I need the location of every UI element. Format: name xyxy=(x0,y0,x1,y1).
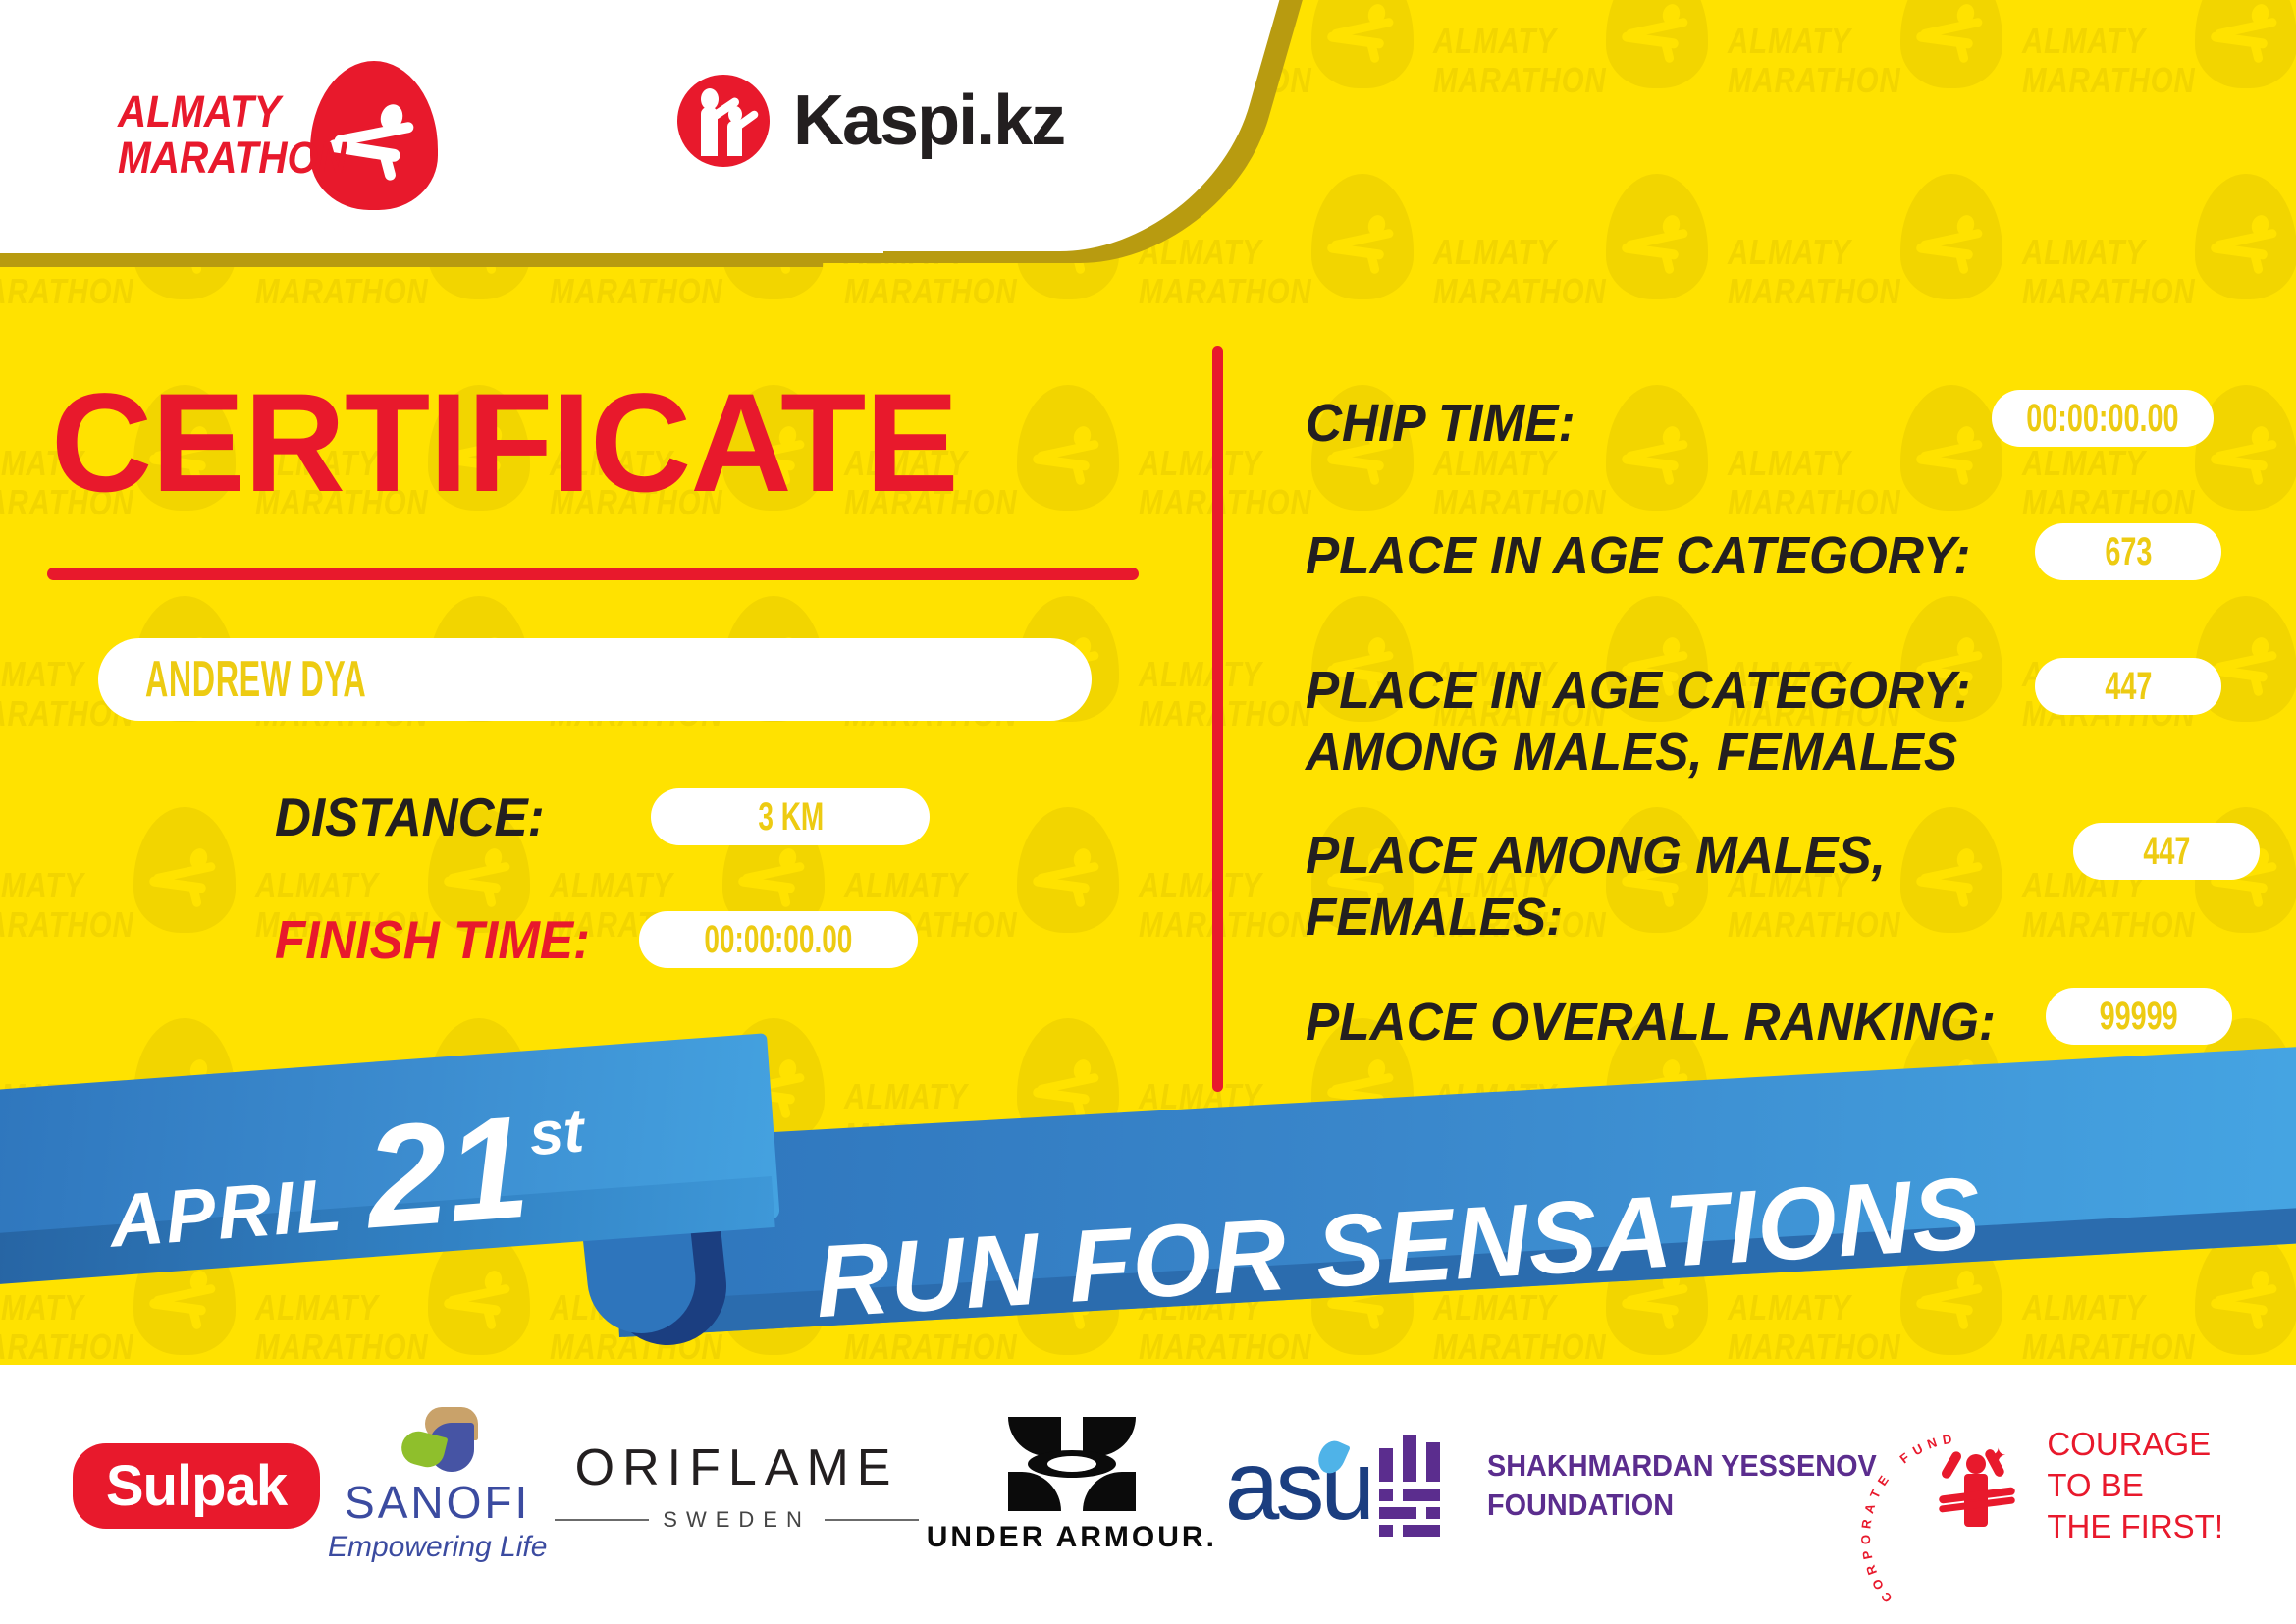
arc-letter: O xyxy=(1869,1577,1887,1593)
arc-letter: N xyxy=(1926,1435,1940,1451)
header-gold-strip xyxy=(0,253,823,267)
vertical-divider xyxy=(1212,346,1223,1092)
corporate-fund-logo: CORPORATE FUND ✦ COURAGE TO BE THE FIRST… xyxy=(1913,1424,2223,1547)
sanofi-wordmark: SANOFI xyxy=(345,1476,530,1529)
asu-wordmark: asu xyxy=(1225,1436,1371,1535)
asu-logo: asu xyxy=(1225,1436,1371,1535)
sulpak-badge: Sulpak xyxy=(73,1443,320,1529)
finish-line-runner-icon: ✦ xyxy=(1947,1448,2007,1529)
kaspi-wordmark: Kaspi.kz xyxy=(793,81,1064,161)
corporate-fund-wordmark: COURAGE TO BE THE FIRST! xyxy=(2047,1424,2223,1547)
yessenov-wordmark: SHAKHMARDAN YESSENOV FOUNDATION xyxy=(1487,1446,1877,1525)
sulpak-wordmark: Sulpak xyxy=(106,1453,287,1519)
place-age-category-value: 673 xyxy=(2105,530,2152,574)
sponsor-yessenov: SHAKHMARDAN YESSENOV FOUNDATION xyxy=(1379,1435,1906,1537)
sponsor-under-armour: UNDER ARMOUR. xyxy=(927,1417,1217,1554)
arc-letter: P xyxy=(1859,1549,1875,1560)
chip-time-value: 00:00:00.00 xyxy=(2026,397,2178,441)
finish-time-row: FINISH TIME: 00:00:00.00 xyxy=(275,908,918,971)
oriflame-wordmark: ORIFLAME xyxy=(575,1438,899,1497)
chip-time-label: CHIP TIME: xyxy=(1306,393,1575,455)
sanofi-bird-icon xyxy=(396,1407,480,1472)
watermark-tile: ALMATYMARATHON xyxy=(0,805,255,1016)
oriflame-sub: SWEDEN xyxy=(555,1507,919,1533)
arc-letter: U xyxy=(1910,1441,1925,1459)
place-age-category-gender-value: 447 xyxy=(2105,665,2152,709)
kaspi-people-icon xyxy=(677,75,770,167)
event-ribbon: APRIL 21 st RUN FOR SENSATIONS xyxy=(0,1070,2296,1394)
place-age-category-gender-label: PLACE IN AGE CATEGORY: AMONG MALES, FEMA… xyxy=(1306,660,1970,784)
place-age-category-gender-value-field: 447 xyxy=(2035,658,2221,715)
place-age-category-label: PLACE IN AGE CATEGORY: xyxy=(1306,525,1970,587)
almaty-logo-text: ALMATYMARATHON xyxy=(118,88,347,181)
oriflame-rule-right xyxy=(825,1519,919,1521)
arc-letter: O xyxy=(1858,1535,1873,1545)
corporate-fund-icon: CORPORATE FUND ✦ xyxy=(1913,1427,2031,1544)
distance-row: DISTANCE: 3 KM xyxy=(275,785,930,848)
sponsor-list: Sulpak SANOFI Empowering Life ORIFLAME S… xyxy=(0,1392,2296,1579)
event-date-month: APRIL xyxy=(107,1162,347,1264)
place-overall-ranking-value: 99999 xyxy=(2100,995,2178,1039)
sponsor-oriflame: ORIFLAME SWEDEN xyxy=(555,1438,919,1533)
almaty-marathon-logo: ALMATYMARATHON xyxy=(118,61,452,198)
place-among-gender-row: PLACE AMONG MALES, FEMALES: 447 xyxy=(1306,825,2260,948)
finish-time-value-field: 00:00:00.00 xyxy=(639,911,918,968)
watermark-tile: ALMATYMARATHON xyxy=(2022,172,2296,383)
participant-name-value: ANDREW DYA xyxy=(145,650,366,709)
place-overall-ranking-value-field: 99999 xyxy=(2046,988,2232,1045)
finish-time-label: FINISH TIME: xyxy=(275,908,590,971)
finish-time-value: 00:00:00.00 xyxy=(705,918,853,962)
almaty-logo-line2: MARATHON xyxy=(118,133,347,183)
watermark-tile: ALMATYMARATHON xyxy=(2022,0,2296,172)
sponsor-sulpak: Sulpak xyxy=(73,1443,320,1529)
almaty-logo-line1: ALMATY xyxy=(118,86,281,136)
under-armour-icon xyxy=(1008,1417,1136,1511)
distance-value: 3 KM xyxy=(758,795,824,839)
arc-letter: D xyxy=(1942,1432,1953,1447)
watermark-tile: ALMATYMARATHON xyxy=(1728,0,2022,172)
event-date-suffix: st xyxy=(527,1096,586,1169)
chip-time-value-field: 00:00:00.00 xyxy=(1992,390,2214,447)
oriflame-rule-left xyxy=(555,1519,649,1521)
event-date-day: 21 xyxy=(362,1109,532,1238)
arc-letter: R xyxy=(1863,1563,1880,1577)
chip-time-row: CHIP TIME: 00:00:00.00 xyxy=(1306,393,2214,455)
arc-letter: C xyxy=(1878,1590,1896,1606)
place-overall-ranking-row: PLACE OVERALL RANKING: 99999 xyxy=(1306,992,2232,1054)
kaspi-logo: Kaspi.kz xyxy=(677,67,1064,175)
oriflame-country: SWEDEN xyxy=(663,1507,811,1533)
certificate-page: ALMATYMARATHONALMATYMARATHONALMATYMARATH… xyxy=(0,0,2296,1624)
watermark-tile: ALMATYMARATHON xyxy=(1433,172,1728,383)
place-age-category-row: PLACE IN AGE CATEGORY: 673 xyxy=(1306,525,2221,587)
place-among-gender-label: PLACE AMONG MALES, FEMALES: xyxy=(1306,825,1886,948)
sponsor-sanofi: SANOFI Empowering Life xyxy=(328,1407,547,1564)
place-among-gender-value: 447 xyxy=(2143,830,2190,874)
watermark-tile: ALMATYMARATHON xyxy=(1433,0,1728,172)
participant-name-field: ANDREW DYA xyxy=(98,638,1092,721)
distance-label: DISTANCE: xyxy=(275,785,545,848)
place-among-gender-value-field: 447 xyxy=(2073,823,2260,880)
distance-value-field: 3 KM xyxy=(651,788,930,845)
place-overall-ranking-label: PLACE OVERALL RANKING: xyxy=(1306,992,1996,1054)
sponsor-asu: asu xyxy=(1225,1436,1371,1535)
place-age-category-gender-row: PLACE IN AGE CATEGORY: AMONG MALES, FEMA… xyxy=(1306,660,2221,784)
sanofi-tagline: Empowering Life xyxy=(328,1531,547,1564)
watermark-tile: ALMATYMARATHON xyxy=(1728,172,2022,383)
sponsor-corporate-fund: CORPORATE FUND ✦ COURAGE TO BE THE FIRST… xyxy=(1913,1424,2223,1547)
yessenov-logo: SHAKHMARDAN YESSENOV FOUNDATION xyxy=(1379,1435,1906,1537)
arc-letter: R xyxy=(1859,1518,1875,1529)
sponsor-footer: Sulpak SANOFI Empowering Life ORIFLAME S… xyxy=(0,1365,2296,1624)
under-armour-wordmark: UNDER ARMOUR. xyxy=(927,1521,1217,1554)
place-age-category-value-field: 673 xyxy=(2035,523,2221,580)
yessenov-bars-icon xyxy=(1379,1435,1466,1537)
page-title: CERTIFICATE xyxy=(51,373,958,514)
title-underline xyxy=(47,568,1139,580)
